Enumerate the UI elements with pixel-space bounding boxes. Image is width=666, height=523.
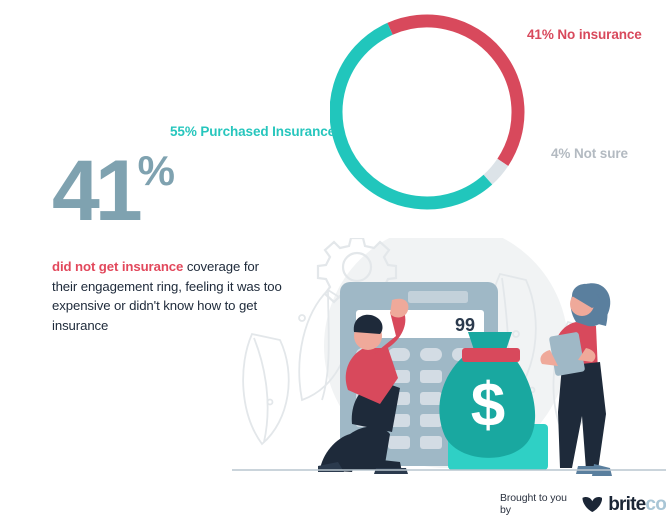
footer-branding: Brought to you by briteco (500, 492, 666, 516)
big-stat-percent-symbol: % (138, 147, 174, 194)
donut-arc-purchased (336, 29, 488, 203)
big-stat-number: 41 (52, 143, 138, 239)
briteco-chevron-logo-icon (582, 496, 603, 513)
donut-chart (330, 8, 530, 218)
footer-credit-text: Brought to you by (500, 492, 576, 516)
stat-description-highlight: did not get insurance (52, 259, 183, 274)
illustration-scene: 99 (232, 238, 666, 478)
chart-label-not-sure: 4% Not sure (551, 146, 628, 161)
donut-ring (336, 21, 518, 203)
big-stat-figure: 41% (52, 148, 174, 234)
infographic-canvas: 41% No insurance 55% Purchased Insurance… (0, 0, 666, 523)
chart-label-purchased-insurance: 55% Purchased Insurance (170, 124, 335, 139)
donut-arc-no-insurance (390, 21, 518, 162)
chart-label-no-insurance: 41% No insurance (527, 27, 642, 42)
money-bag-dollar-sign: $ (471, 371, 505, 440)
brand-word-accent: co (645, 494, 666, 515)
brand-word-main: brite (608, 494, 645, 515)
briteco-wordmark: briteco (608, 495, 666, 514)
donut-arc-not-sure (488, 162, 503, 179)
